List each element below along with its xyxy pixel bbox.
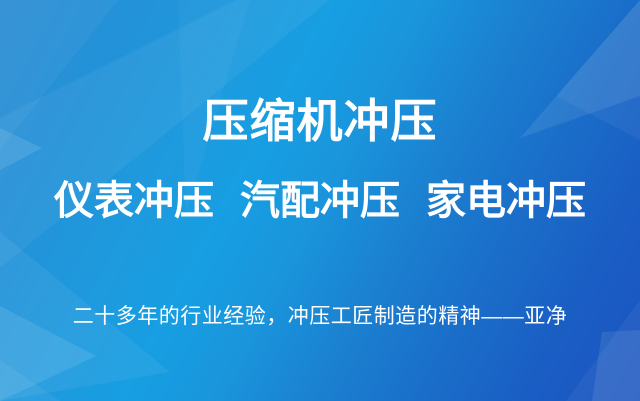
banner-tagline: 二十多年的行业经验，冲压工匠制造的精神——亚净	[0, 303, 640, 330]
headline-sub-item-0: 仪表冲压	[54, 179, 214, 223]
headline-sub-row: 仪表冲压汽配冲压家电冲压	[0, 178, 640, 224]
promo-banner: 压缩机冲压 仪表冲压汽配冲压家电冲压 二十多年的行业经验，冲压工匠制造的精神——…	[0, 0, 640, 401]
banner-content: 压缩机冲压 仪表冲压汽配冲压家电冲压 二十多年的行业经验，冲压工匠制造的精神——…	[0, 0, 640, 401]
headline-sub-item-2: 家电冲压	[426, 179, 586, 223]
headline-sub-item-1: 汽配冲压	[240, 179, 400, 223]
headline-main: 压缩机冲压	[0, 96, 640, 148]
